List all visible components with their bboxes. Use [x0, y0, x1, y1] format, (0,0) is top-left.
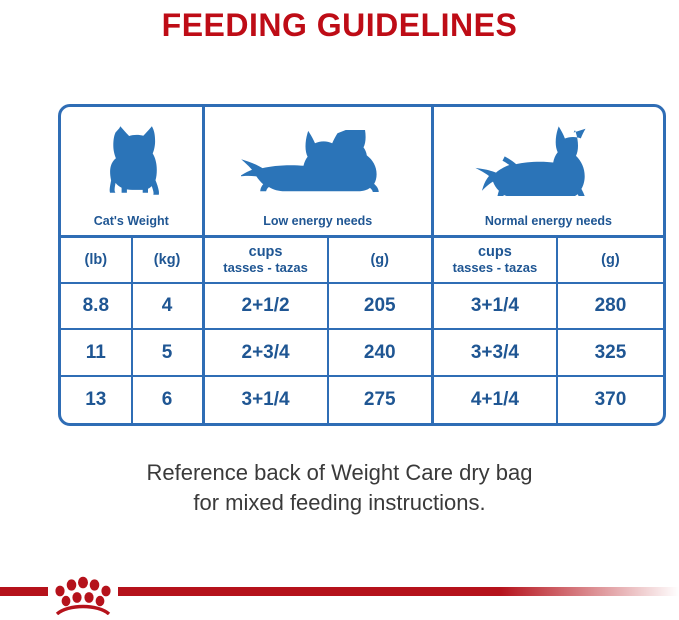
- cell-kg: 4: [133, 284, 205, 328]
- subheader-normal-cups-main: cups: [478, 245, 512, 260]
- cell-lb: 13: [61, 377, 133, 423]
- cell-normal-grams: 280: [558, 284, 663, 328]
- subheader-normal-cups-sub: tasses - tazas: [453, 260, 538, 275]
- cat-standing-icon: [61, 107, 202, 214]
- cat-walking-icon: [434, 107, 663, 214]
- feeding-note: Reference back of Weight Care dry bag fo…: [0, 458, 679, 518]
- cell-low-grams: 240: [329, 330, 434, 374]
- table-grid: Cat's Weight Low energy needs Normal ene…: [58, 104, 666, 426]
- cell-low-cups: 2+1/2: [205, 284, 329, 328]
- brand-bar-right: [118, 587, 679, 596]
- cell-kg: 6: [133, 377, 205, 423]
- subheader-kg: (kg): [133, 238, 205, 281]
- cell-kg: 5: [133, 330, 205, 374]
- subheader-low-cups: cups tasses - tazas: [205, 238, 329, 281]
- cell-low-cups: 2+3/4: [205, 330, 329, 374]
- table-row: 13 6 3+1/4 275 4+1/4 370: [61, 377, 663, 423]
- header-cell-normal-energy: Normal energy needs: [434, 107, 663, 235]
- table-row: 11 5 2+3/4 240 3+3/4 325: [61, 330, 663, 376]
- cell-low-cups: 3+1/4: [205, 377, 329, 423]
- cell-normal-cups: 4+1/4: [434, 377, 558, 423]
- brand-bar-left: [0, 587, 48, 596]
- cell-low-grams: 275: [329, 377, 434, 423]
- cell-normal-cups: 3+3/4: [434, 330, 558, 374]
- table-subheader-row: (lb) (kg) cups tasses - tazas (g) cups t…: [61, 238, 663, 283]
- header-cell-cats-weight: Cat's Weight: [61, 107, 205, 235]
- feeding-note-line-2: for mixed feeding instructions.: [0, 488, 679, 518]
- cell-normal-grams: 325: [558, 330, 663, 374]
- header-label-cats-weight: Cat's Weight: [94, 214, 169, 228]
- cell-low-grams: 205: [329, 284, 434, 328]
- subheader-low-cups-sub: tasses - tazas: [223, 260, 308, 275]
- table-row: 8.8 4 2+1/2 205 3+1/4 280: [61, 284, 663, 330]
- feeding-note-line-1: Reference back of Weight Care dry bag: [0, 458, 679, 488]
- cell-lb: 8.8: [61, 284, 133, 328]
- cell-normal-cups: 3+1/4: [434, 284, 558, 328]
- brand-footer: [0, 553, 679, 615]
- header-label-low-energy: Low energy needs: [263, 214, 372, 228]
- feeding-guidelines-table: Cat's Weight Low energy needs Normal ene…: [58, 104, 666, 426]
- table-icon-header-row: Cat's Weight Low energy needs Normal ene…: [61, 107, 663, 238]
- subheader-normal-cups: cups tasses - tazas: [434, 238, 558, 281]
- cat-lying-icon: [205, 107, 431, 214]
- header-label-normal-energy: Normal energy needs: [485, 214, 612, 228]
- page-title: FEEDING GUIDELINES: [0, 0, 679, 44]
- cell-normal-grams: 370: [558, 377, 663, 423]
- subheader-low-cups-main: cups: [249, 245, 283, 260]
- royal-canin-crown-logo: [48, 571, 118, 615]
- header-cell-low-energy: Low energy needs: [205, 107, 434, 235]
- subheader-normal-grams: (g): [558, 238, 663, 281]
- cell-lb: 11: [61, 330, 133, 374]
- subheader-low-grams: (g): [329, 238, 434, 281]
- subheader-lb: (lb): [61, 238, 133, 281]
